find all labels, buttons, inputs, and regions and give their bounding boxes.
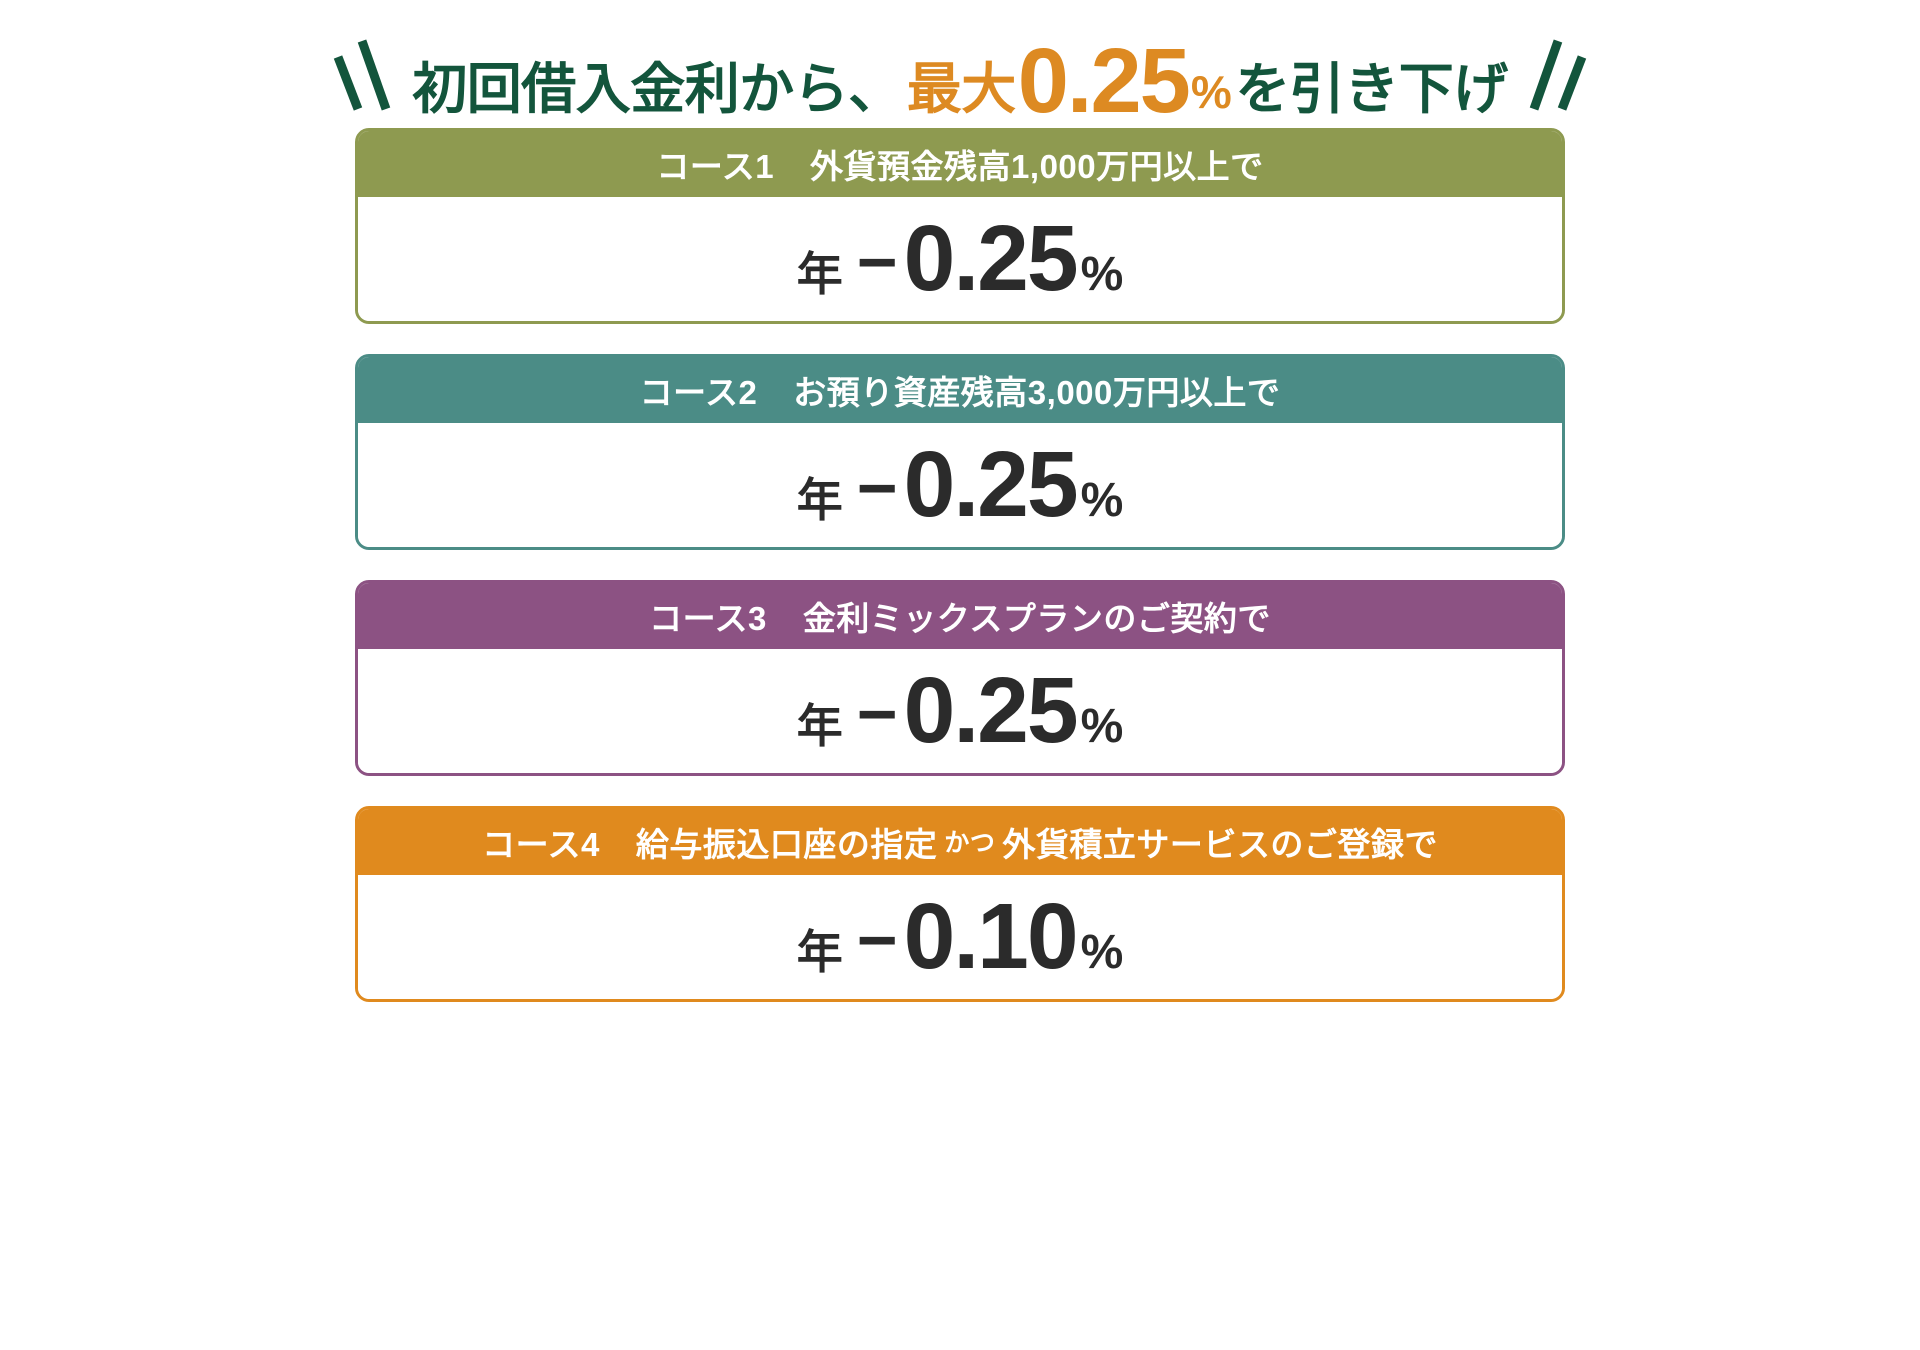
- rate-percent-symbol: %: [1081, 473, 1124, 528]
- course-card-2-course-label: コース2: [640, 366, 758, 414]
- rate-sign: −: [857, 674, 898, 754]
- course-card-2-condition: お預り資産残高3,000万円以上で: [793, 366, 1280, 414]
- course-card-1-header: コース1 外貨預金残高1,000万円以上で: [358, 131, 1562, 197]
- promo-banner: 初回借入金利から、 最大 0.25 % を引き下げ コース1 外貨預金残高1,0…: [0, 0, 1920, 1350]
- course-card-1-body: 年 − 0.25 %: [358, 197, 1562, 321]
- headline-text: 初回借入金利から、 最大 0.25 % を引き下げ: [412, 31, 1508, 123]
- course-card-4-course-label: コース4: [482, 818, 600, 866]
- rate-percent-symbol: %: [1081, 699, 1124, 754]
- headline-emphasis-prefix: 最大: [907, 62, 1016, 117]
- rate-value: 0.25: [904, 664, 1077, 757]
- course-card-4-condition-connector: かつ: [944, 823, 995, 859]
- course-card-2-body: 年 − 0.25 %: [358, 423, 1562, 547]
- course-card-3-course-label: コース3: [649, 592, 767, 640]
- course-card-3-condition: 金利ミックスプランのご契約で: [803, 592, 1271, 640]
- course-card-3-rate: 年 − 0.25 %: [797, 664, 1124, 758]
- course-card-2-rate: 年 − 0.25 %: [797, 438, 1124, 532]
- course-card-list: コース1 外貨預金残高1,000万円以上で 年 − 0.25 % コース2 お預…: [355, 128, 1565, 1002]
- course-card-4-condition-tail: 外貨積立サービスのご登録で: [1002, 818, 1438, 866]
- course-card-4-rate: 年 − 0.10 %: [797, 890, 1124, 984]
- headline-suffix: を引き下げ: [1235, 62, 1508, 117]
- rate-sign: −: [857, 448, 898, 528]
- rate-value: 0.25: [904, 212, 1077, 305]
- rate-unit-label: 年: [797, 238, 843, 304]
- rate-percent-symbol: %: [1081, 925, 1124, 980]
- course-card-4: コース4 給与振込口座の指定 かつ 外貨積立サービスのご登録で 年 − 0.10…: [355, 806, 1565, 1002]
- course-card-2: コース2 お預り資産残高3,000万円以上で 年 − 0.25 %: [355, 354, 1565, 550]
- rate-sign: −: [857, 222, 898, 302]
- rate-value: 0.25: [904, 438, 1077, 531]
- headline: 初回借入金利から、 最大 0.25 % を引き下げ: [0, 0, 1920, 128]
- headline-prefix: 初回借入金利から、: [412, 62, 903, 117]
- double-slash-right-icon: [1526, 35, 1588, 119]
- rate-sign: −: [857, 900, 898, 980]
- course-card-4-body: 年 − 0.10 %: [358, 875, 1562, 999]
- rate-percent-symbol: %: [1081, 247, 1124, 302]
- course-card-4-header: コース4 給与振込口座の指定 かつ 外貨積立サービスのご登録で: [358, 809, 1562, 875]
- headline-emphasis-percent: %: [1191, 69, 1231, 115]
- headline-emphasis-value: 0.25: [1018, 35, 1189, 127]
- course-card-1-course-label: コース1: [656, 140, 774, 188]
- rate-unit-label: 年: [797, 690, 843, 756]
- rate-unit-label: 年: [797, 916, 843, 982]
- course-card-1-condition: 外貨預金残高1,000万円以上で: [810, 140, 1264, 188]
- course-card-1: コース1 外貨預金残高1,000万円以上で 年 − 0.25 %: [355, 128, 1565, 324]
- rate-unit-label: 年: [797, 464, 843, 530]
- course-card-3-body: 年 − 0.25 %: [358, 649, 1562, 773]
- double-slash-left-icon: [332, 35, 394, 119]
- rate-value: 0.10: [904, 890, 1077, 983]
- course-card-1-rate: 年 − 0.25 %: [797, 212, 1124, 306]
- course-card-2-header: コース2 お預り資産残高3,000万円以上で: [358, 357, 1562, 423]
- course-card-3: コース3 金利ミックスプランのご契約で 年 − 0.25 %: [355, 580, 1565, 776]
- course-card-3-header: コース3 金利ミックスプランのご契約で: [358, 583, 1562, 649]
- course-card-4-condition: 給与振込口座の指定: [636, 818, 938, 866]
